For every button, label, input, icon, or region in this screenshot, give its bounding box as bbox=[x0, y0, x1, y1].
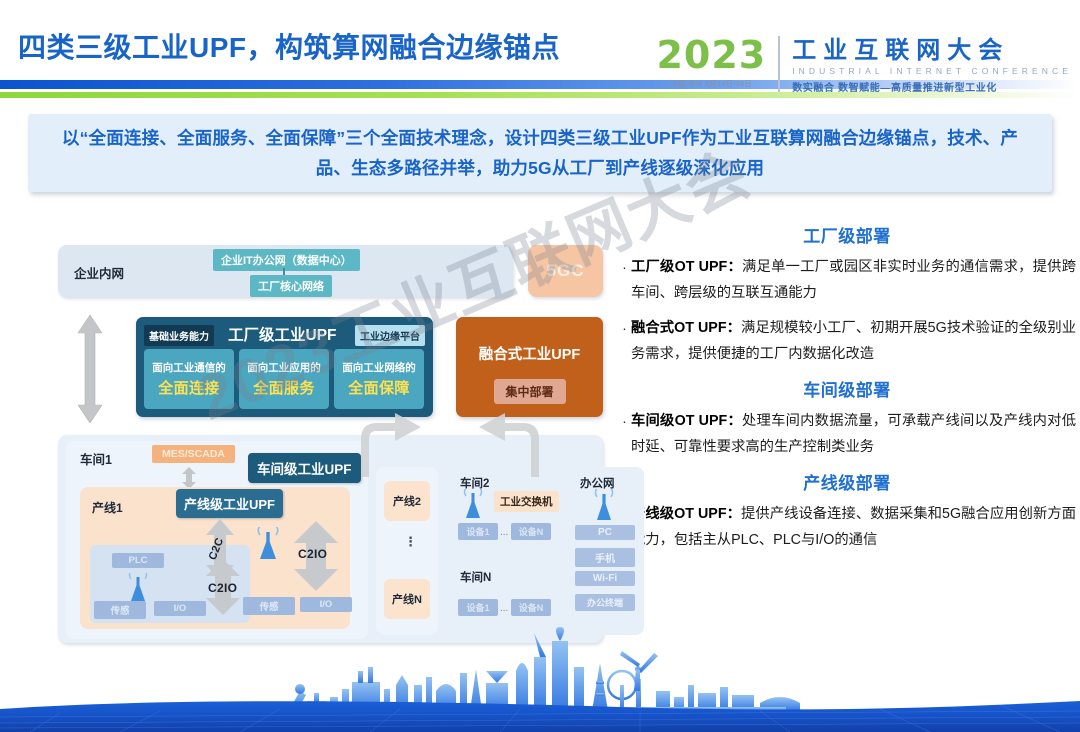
section-heading-factory: 工厂级部署 bbox=[618, 222, 1076, 247]
workshopN-label: 车间N bbox=[460, 569, 491, 585]
outer-chip-io: I/O bbox=[300, 597, 352, 612]
conference-name-cn: 工业互联网大会 bbox=[792, 38, 1072, 64]
workshop2-ellipsis: ... bbox=[500, 527, 508, 538]
antenna-icon bbox=[456, 489, 490, 521]
logo-divider bbox=[778, 36, 780, 92]
bullet-lead: 车间级OT UPF： bbox=[631, 413, 742, 429]
bullet-item: · 工厂级OT UPF：满足单一工厂或园区非实时业务的通信需求，提供跨车间、跨层… bbox=[618, 254, 1076, 306]
slide-root: 四类三级工业UPF，构筑算网融合边缘锚点 2023 中国·苏州 6月14日-16… bbox=[0, 0, 1080, 732]
capability-cell-main: 全面保障 bbox=[348, 377, 410, 398]
right-text-panel: 工厂级部署 · 工厂级OT UPF：满足单一工厂或园区非实时业务的通信需求，提供… bbox=[618, 222, 1076, 562]
device-chip-io: I/O bbox=[154, 601, 206, 616]
workshop2-deviceN: 设备N bbox=[511, 523, 551, 540]
enterprise-intranet-box: 企业内网 企业IT办公网（数据中心） 工厂核心网络 bbox=[58, 245, 513, 297]
mes-scada-badge: MES/SCADA bbox=[152, 445, 235, 463]
conference-name-en: INDUSTRIAL INTERNET CONFERENCE bbox=[792, 66, 1072, 76]
page-title: 四类三级工业UPF，构筑算网融合边缘锚点 bbox=[18, 26, 560, 66]
capability-cell-sub: 面向工业网络的 bbox=[342, 360, 416, 375]
device-chip-sensor: 传感 bbox=[94, 601, 146, 619]
slide-header: 四类三级工业UPF，构筑算网融合边缘锚点 2023 中国·苏州 6月14日-16… bbox=[0, 0, 1080, 108]
conference-tagline: 数实融合 数智赋能—高质量推进新型工业化 bbox=[792, 79, 1072, 94]
summary-banner-text: 以“全面连接、全面服务、全面保障”三个全面技术理念，设计四类三级工业UPF作为工… bbox=[28, 123, 1052, 183]
capability-cell-sub: 面向工业应用的 bbox=[247, 360, 321, 375]
outer-chip-sensor: 传感 bbox=[243, 597, 295, 615]
bullet-text: 融合式OT UPF：满足规模较小工厂、初期开展5G技术验证的全级别业务需求，提供… bbox=[631, 315, 1076, 367]
bullet-item: · 融合式OT UPF：满足规模较小工厂、初期开展5G技术验证的全级别业务需求，… bbox=[618, 315, 1076, 367]
device-chip-plc: PLC bbox=[112, 553, 164, 568]
office-item-wifi: Wi-Fi bbox=[575, 571, 635, 586]
industrial-edge-platform-badge: 工业边缘平台 bbox=[355, 325, 425, 346]
bullet-lead: 工厂级OT UPF： bbox=[631, 259, 742, 275]
logo-year-block: 2023 中国·苏州 6月14日-16日 bbox=[656, 36, 778, 89]
fivegc-label: 5GC bbox=[547, 261, 585, 281]
workshopN-ellipsis: ... bbox=[500, 603, 508, 614]
production-line1-box: 产线1 产线级工业UPF PLC 传感 I/O bbox=[80, 487, 350, 629]
bullet-marker: · bbox=[618, 254, 631, 306]
capability-cell-sub: 面向工业通信的 bbox=[152, 360, 226, 375]
bullet-text: 车间级OT UPF：处理车间内数据流量，可承载产线间以及产线内对低时延、可靠性要… bbox=[631, 408, 1076, 460]
logo-place-date: 中国·苏州 6月14日-16日 bbox=[656, 79, 766, 89]
workshop1-label: 车间1 bbox=[80, 449, 112, 468]
c2io-inner-label: C2IO bbox=[208, 581, 237, 595]
bullet-lead: 产线级OT UPF： bbox=[631, 506, 741, 522]
section-heading-workshop: 车间级部署 bbox=[618, 376, 1076, 401]
office-item-terminal: 办公终端 bbox=[575, 594, 635, 611]
bullet-text: 工厂级OT UPF：满足单一工厂或园区非实时业务的通信需求，提供跨车间、跨层级的… bbox=[631, 254, 1076, 306]
vertical-double-arrow-icon bbox=[78, 315, 102, 423]
production-lines-column: 产线2 ⋮ 产线N bbox=[376, 467, 438, 635]
production-lineN-card: 产线N bbox=[384, 579, 430, 619]
office-network-box: 办公网 PC 手机 Wi-Fi 办公终端 bbox=[566, 467, 644, 635]
bullet-marker: · bbox=[618, 408, 631, 460]
capability-cell-service: 面向工业应用的 全面服务 bbox=[239, 349, 329, 409]
mes-uplink-arrow-icon bbox=[182, 467, 196, 489]
lines-ellipsis: ⋮ bbox=[404, 539, 417, 544]
logo-text-block: 工业互联网大会 INDUSTRIAL INTERNET CONFERENCE 数… bbox=[792, 36, 1072, 94]
antenna-icon bbox=[120, 573, 156, 603]
office-item-phone: 手机 bbox=[575, 548, 635, 567]
industrial-switch-badge: 工业交换机 bbox=[494, 491, 559, 512]
capability-cell-guarantee: 面向工业网络的 全面保障 bbox=[334, 349, 424, 409]
it-office-network-badge: 企业IT办公网（数据中心） bbox=[213, 249, 360, 271]
bullet-marker: · bbox=[618, 315, 631, 367]
basic-service-capability-badge: 基础业务能力 bbox=[144, 325, 214, 346]
workshop1-box: 车间1 MES/SCADA 车间级工业UPF 产线1 产线级工业UPF PLC bbox=[66, 441, 368, 639]
capability-cell-connect: 面向工业通信的 全面连接 bbox=[144, 349, 234, 409]
centralized-deployment-badge: 集中部署 bbox=[493, 379, 565, 404]
c2io-outer-label: C2IO bbox=[298, 547, 327, 561]
logo-year: 2023 bbox=[656, 36, 766, 74]
bullet-item: · 车间级OT UPF：处理车间内数据流量，可承载产线间以及产线内对低时延、可靠… bbox=[618, 408, 1076, 460]
capability-cell-main: 全面服务 bbox=[253, 377, 315, 398]
workshopN-deviceN: 设备N bbox=[511, 599, 551, 616]
section-heading-line: 产线级部署 bbox=[618, 469, 1076, 494]
antenna-icon bbox=[586, 489, 622, 523]
bullet-item: · 产线级OT UPF：提供产线设备连接、数据采集和5G融合应用创新方面能力，包… bbox=[618, 501, 1076, 553]
footer-skyline-graphic bbox=[0, 627, 1080, 732]
factory-level-upf-title: 工厂级工业UPF bbox=[228, 323, 337, 345]
summary-banner: 以“全面连接、全面服务、全面保障”三个全面技术理念，设计四类三级工业UPF作为工… bbox=[28, 114, 1052, 192]
workshop2-box: 车间2 工业交换机 设备1 ... 设备N bbox=[448, 467, 558, 545]
fused-upf-box: 融合式工业UPF 集中部署 bbox=[456, 317, 603, 417]
production-line1-label: 产线1 bbox=[92, 499, 123, 516]
architecture-diagram: 企业内网 企业IT办公网（数据中心） 工厂核心网络 5GC 基础业务能力 工厂级… bbox=[58, 245, 603, 645]
fused-upf-title: 融合式工业UPF bbox=[456, 343, 603, 364]
factory-core-network-badge: 工厂核心网络 bbox=[250, 275, 332, 297]
conference-logo: 2023 中国·苏州 6月14日-16日 工业互联网大会 INDUSTRIAL … bbox=[656, 36, 1072, 102]
factory-level-upf-box: 基础业务能力 工厂级工业UPF 工业边缘平台 面向工业通信的 全面连接 面向工业… bbox=[136, 317, 433, 417]
workshop2-device1: 设备1 bbox=[458, 523, 498, 540]
fivegc-box: 5GC bbox=[528, 245, 603, 297]
capability-cell-main: 全面连接 bbox=[158, 377, 220, 398]
antenna-icon bbox=[248, 527, 288, 563]
line-level-upf-badge: 产线级工业UPF bbox=[176, 489, 283, 518]
uplink-connector-arrows bbox=[343, 413, 603, 477]
workshopN-box: 车间N 设备1 ... 设备N bbox=[448, 555, 558, 635]
office-item-pc: PC bbox=[575, 525, 635, 540]
production-line2-card: 产线2 bbox=[384, 481, 430, 521]
enterprise-intranet-label: 企业内网 bbox=[74, 263, 124, 282]
workshopN-device1: 设备1 bbox=[458, 599, 498, 616]
bullet-lead: 融合式OT UPF： bbox=[631, 320, 741, 336]
bullet-text: 产线级OT UPF：提供产线设备连接、数据采集和5G融合应用创新方面能力，包括主… bbox=[631, 501, 1076, 553]
